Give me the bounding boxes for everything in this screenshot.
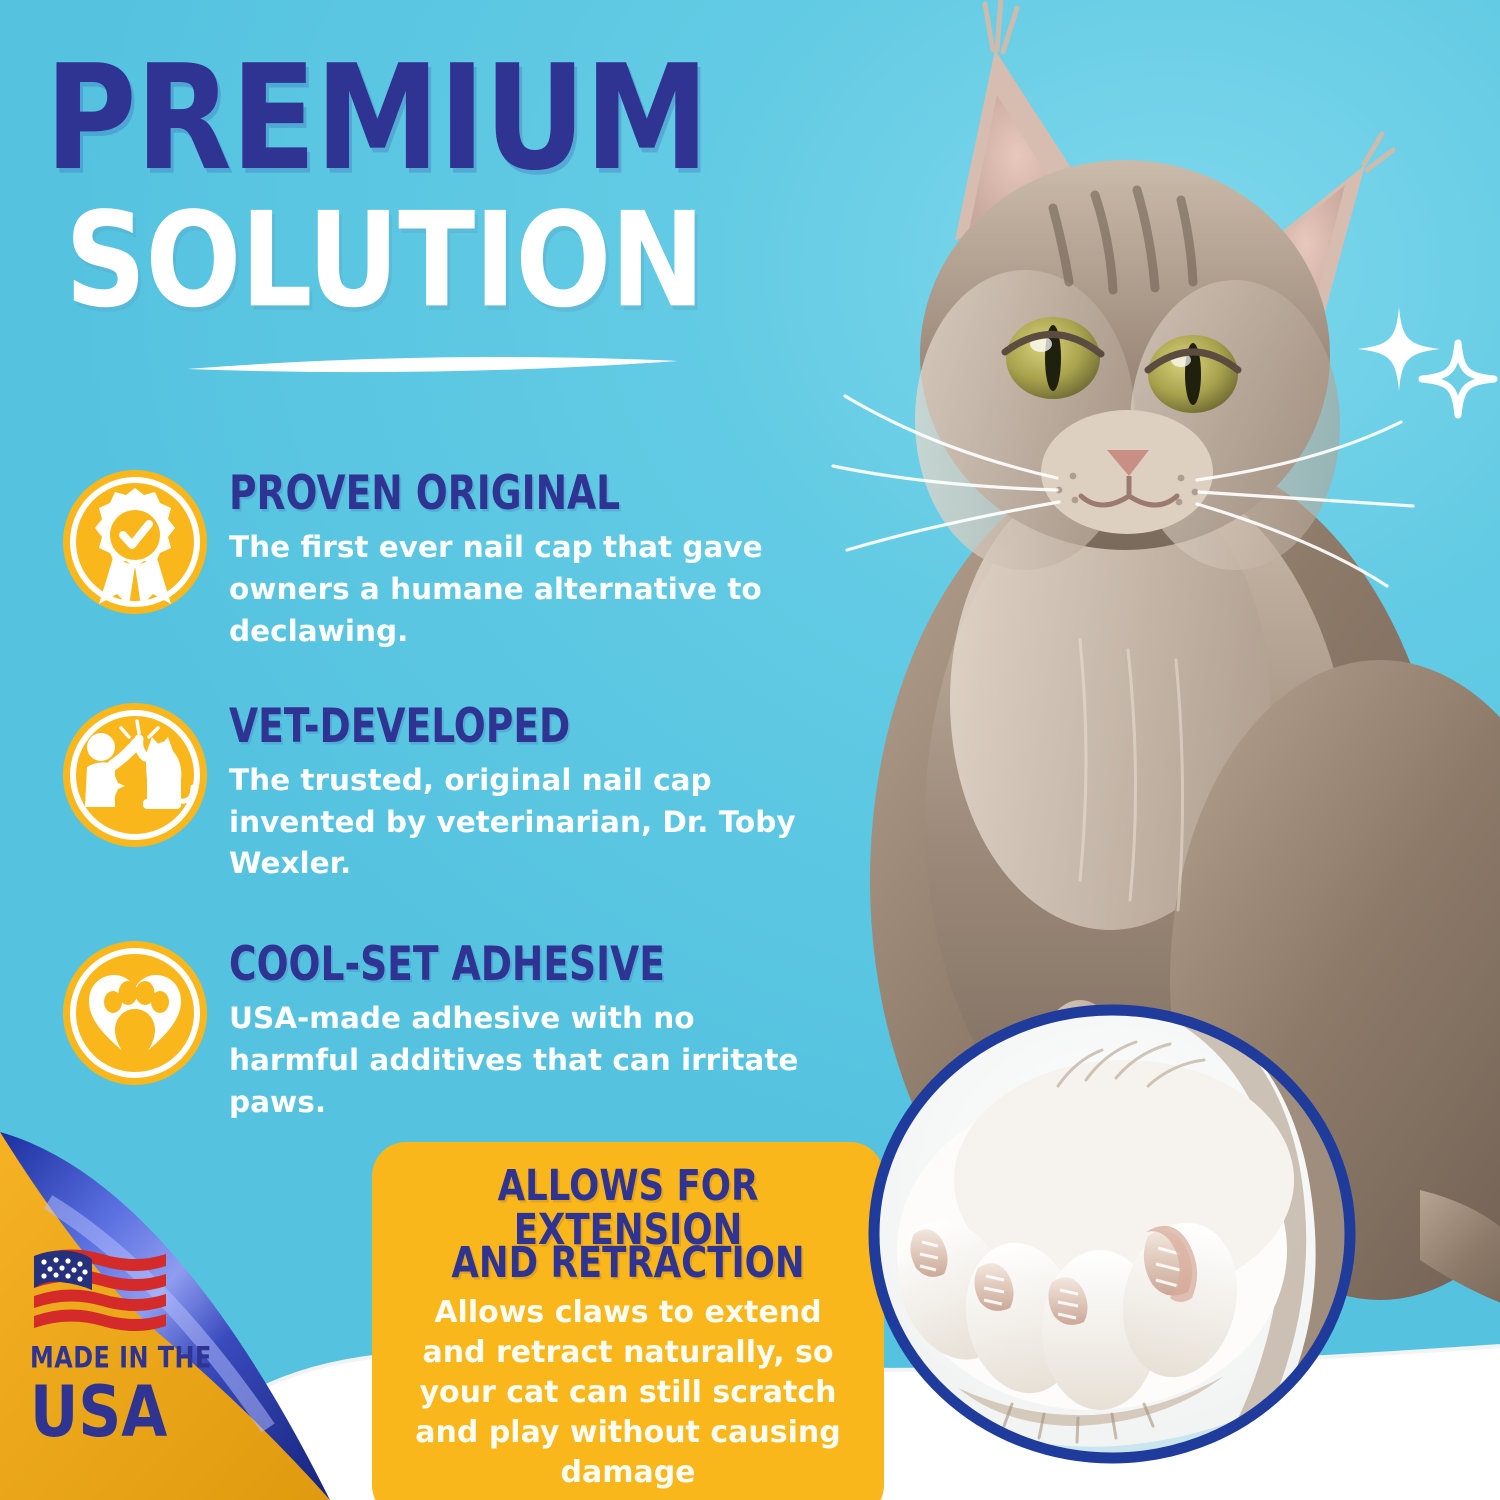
feature-item: PROVEN ORIGINAL The first ever nail cap …: [55, 462, 855, 653]
title-line-solution: SOLUTION: [45, 201, 865, 322]
feature-title: PROVEN ORIGINAL: [229, 470, 817, 517]
feature-title: VET-DEVELOPED: [229, 703, 817, 750]
usa-flag-icon: [30, 1242, 170, 1334]
made-in-usa-badge: MADE IN THE USA: [30, 1242, 250, 1438]
sparkles-group: [1352, 305, 1500, 430]
callout-title-line2: AND RETRACTION: [411, 1241, 845, 1286]
feature-body: USA-made adhesive with no harmful additi…: [229, 998, 829, 1124]
title-underline-swoosh: [185, 352, 680, 378]
extension-retraction-callout: ALLOWS FOR EXTENSION AND RETRACTION Allo…: [372, 1142, 884, 1500]
cat-paw-inset-photo: [862, 1000, 1362, 1468]
usa-label: USA: [30, 1379, 241, 1446]
feature-title: COOL-SET ADHESIVE: [229, 941, 817, 988]
made-in-the-label: MADE IN THE: [30, 1344, 232, 1373]
vet-high-five-cat-icon: [55, 695, 215, 855]
page-title: PREMIUM SOLUTION: [45, 52, 865, 305]
heart-paw-icon: [55, 933, 215, 1093]
feature-item: VET-DEVELOPED The trusted, original nail…: [55, 695, 855, 886]
award-ribbon-check-icon: [55, 462, 215, 622]
product-infographic: PREMIUM SOLUTION PROVEN ORIGINAL The fir…: [0, 0, 1500, 1500]
sparkle-star-outline-icon: [1422, 343, 1494, 415]
title-line-premium: PREMIUM: [45, 52, 865, 185]
feature-body: The first ever nail cap that gave owners…: [229, 527, 829, 653]
feature-body: The trusted, original nail cap invented …: [229, 760, 829, 886]
callout-body: Allows claws to extend and retract natur…: [402, 1293, 854, 1492]
feature-item: COOL-SET ADHESIVE USA-made adhesive with…: [55, 933, 855, 1124]
feature-list: PROVEN ORIGINAL The first ever nail cap …: [55, 462, 855, 1176]
